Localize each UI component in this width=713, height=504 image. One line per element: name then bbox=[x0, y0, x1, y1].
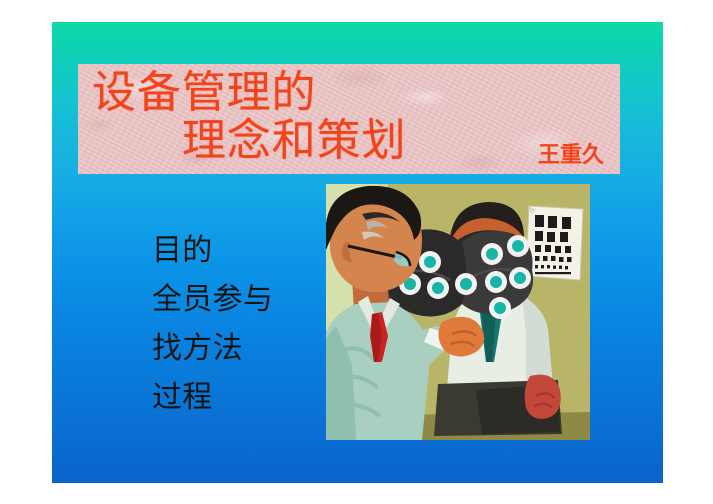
slide-title-line-2: 理念和策划 bbox=[182, 114, 406, 168]
author-name: 王重久 bbox=[538, 142, 604, 168]
slide-title-line-1: 设备管理的 bbox=[92, 66, 316, 120]
list-item: 过程 bbox=[152, 373, 342, 422]
title-plaque: 设备管理的 理念和策划 王重久 bbox=[78, 64, 620, 174]
eye-exam-illustration bbox=[326, 184, 590, 440]
screenshot-canvas: 设备管理的 理念和策划 王重久 目的 全员参与 找方法 过程 bbox=[0, 0, 713, 504]
eye-exam-clipart bbox=[326, 184, 590, 440]
list-item: 找方法 bbox=[152, 324, 342, 373]
presentation-slide: 设备管理的 理念和策划 王重久 目的 全员参与 找方法 过程 bbox=[52, 22, 663, 483]
list-item: 目的 bbox=[152, 226, 342, 275]
list-item: 全员参与 bbox=[152, 275, 342, 324]
eye-chart-poster bbox=[526, 206, 583, 280]
bullet-list: 目的 全员参与 找方法 过程 bbox=[152, 226, 342, 422]
